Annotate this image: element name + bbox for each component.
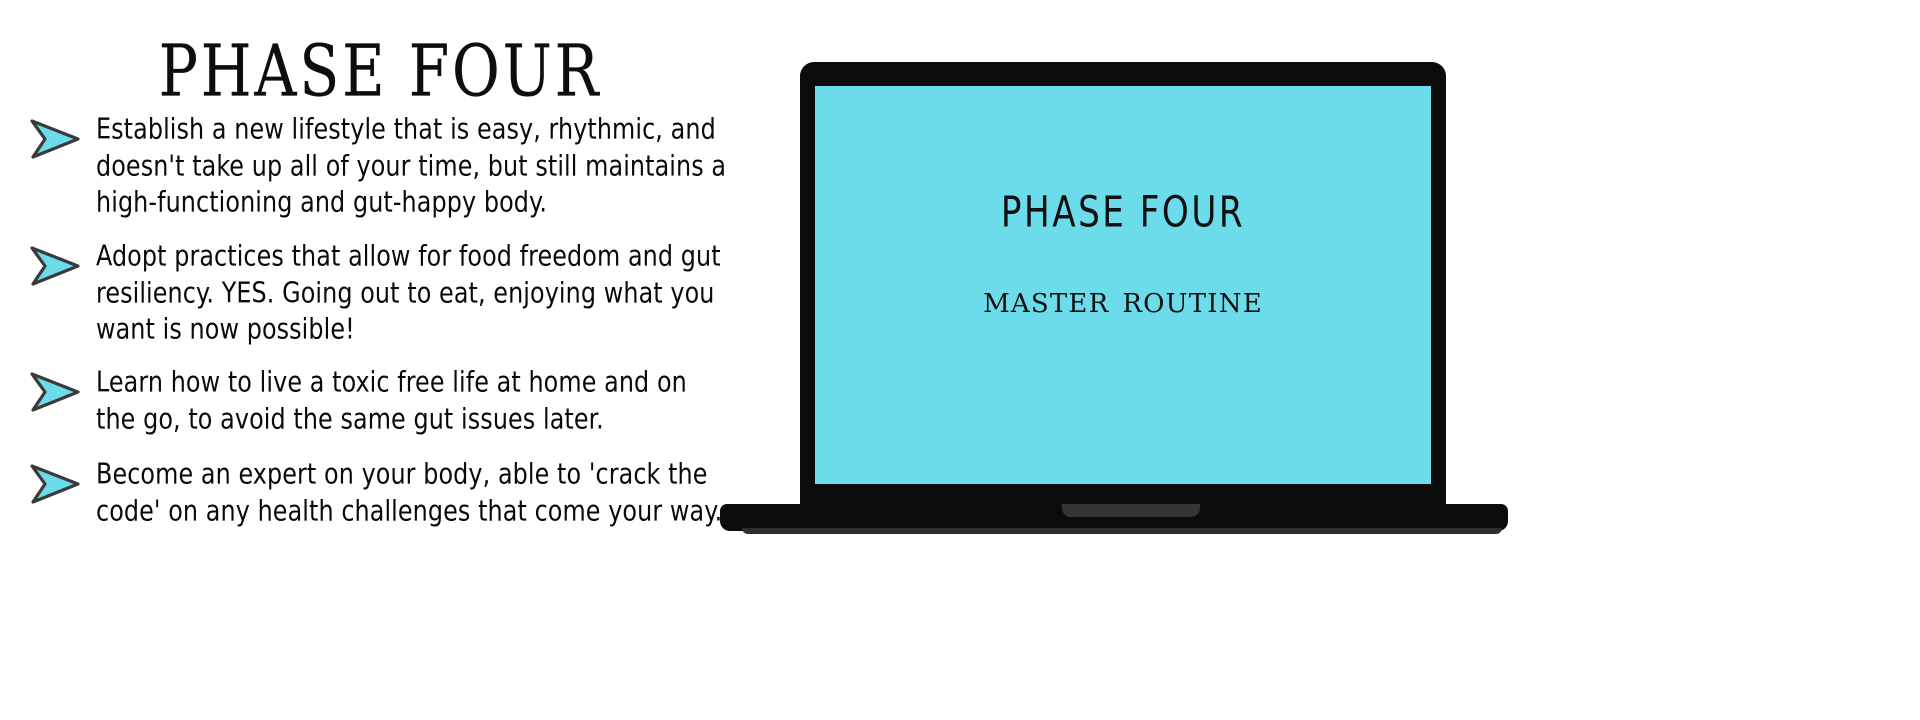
slide-canvas: PHASE FOUR Establish a new lifestyle tha… bbox=[0, 0, 1920, 720]
laptop-base-shadow bbox=[742, 528, 1502, 534]
list-item: Become an expert on your body, able to '… bbox=[28, 457, 728, 526]
page-title: PHASE FOUR bbox=[136, 36, 625, 107]
chevron-arrow-icon bbox=[28, 118, 86, 160]
bullet-list: Establish a new lifestyle that is easy, … bbox=[28, 112, 728, 549]
list-item: Learn how to live a toxic free life at h… bbox=[28, 365, 728, 434]
chevron-arrow-icon bbox=[28, 245, 86, 287]
list-item-label: Become an expert on your body, able to '… bbox=[96, 457, 728, 530]
screen-title: PHASE FOUR bbox=[1001, 187, 1245, 236]
laptop-trackpad-notch bbox=[1062, 504, 1200, 517]
laptop-mockup: PHASE FOUR Master Routine bbox=[718, 52, 1508, 572]
list-item: Establish a new lifestyle that is easy, … bbox=[28, 112, 728, 216]
screen-subtitle: Master Routine bbox=[983, 278, 1263, 321]
list-item: Adopt practices that allow for food free… bbox=[28, 239, 728, 343]
chevron-arrow-icon bbox=[28, 463, 86, 505]
list-item-label: Learn how to live a toxic free life at h… bbox=[96, 365, 728, 438]
laptop-screen: PHASE FOUR Master Routine bbox=[815, 86, 1431, 484]
chevron-arrow-icon bbox=[28, 371, 86, 413]
list-item-label: Adopt practices that allow for food free… bbox=[96, 239, 728, 349]
list-item-label: Establish a new lifestyle that is easy, … bbox=[96, 112, 728, 222]
